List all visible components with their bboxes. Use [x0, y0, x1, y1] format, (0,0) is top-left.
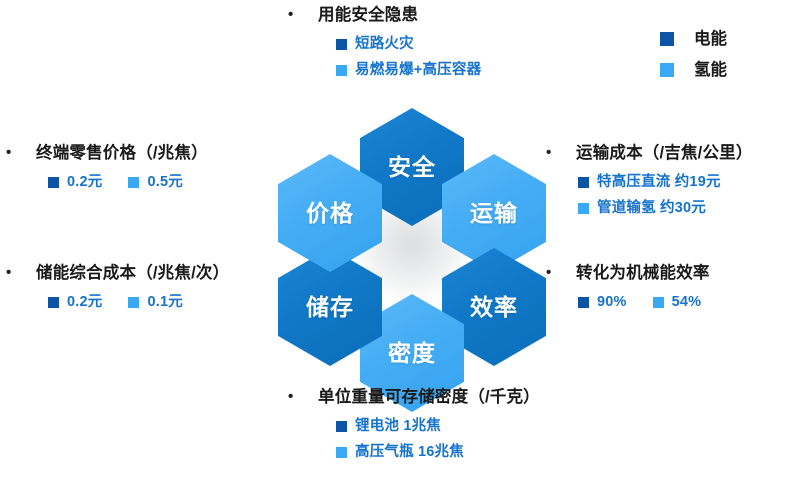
list-item: 管道输氢 约30元	[578, 199, 753, 217]
block-transport-cost-title: 运输成本（/吉焦/公里）	[576, 142, 753, 164]
bullet-dot-icon: •	[288, 4, 298, 26]
block-price-item-1: 0.5元	[147, 173, 182, 191]
block-efficiency: • 转化为机械能效率 90% 54%	[546, 262, 710, 311]
hexagon-label-efficiency: 效率	[470, 294, 518, 320]
bullet-dot-icon: •	[6, 262, 16, 284]
block-density-header: • 单位重量可存储密度（/千克）	[288, 386, 540, 408]
block-efficiency-item-1: 54%	[672, 293, 702, 311]
swatch-dark-icon	[336, 39, 347, 50]
swatch-light-icon	[653, 297, 664, 308]
list-item-pair: 90% 54%	[578, 293, 710, 311]
swatch-dark-icon	[48, 177, 59, 188]
block-safety-item-0: 短路火灾	[355, 35, 414, 53]
block-safety: • 用能安全隐患 短路火灾 易燃易爆+高压容器	[288, 4, 481, 79]
block-storage-cost: • 储能综合成本（/兆焦/次） 0.2元 0.1元	[6, 262, 229, 311]
block-safety-items: 短路火灾 易燃易爆+高压容器	[336, 35, 481, 79]
block-transport-cost-items: 特高压直流 约19元 管道输氢 约30元	[578, 173, 753, 217]
block-storage-cost-header: • 储能综合成本（/兆焦/次）	[6, 262, 229, 284]
legend-label-hydrogen: 氢能	[694, 61, 727, 79]
bullet-dot-icon: •	[6, 142, 16, 164]
swatch-dark-icon	[48, 297, 59, 308]
block-efficiency-header: • 转化为机械能效率	[546, 262, 710, 284]
block-density-item-1: 高压气瓶 16兆焦	[355, 443, 464, 461]
hexagon-label-storage: 储存	[306, 294, 354, 320]
swatch-dark-icon	[336, 421, 347, 432]
block-density-title: 单位重量可存储密度（/千克）	[318, 386, 540, 408]
legend-swatch-dark-icon	[660, 32, 674, 46]
block-transport-cost: • 运输成本（/吉焦/公里） 特高压直流 约19元 管道输氢 约30元	[546, 142, 753, 217]
legend-label-electric: 电能	[694, 30, 727, 48]
list-item: 锂电池 1兆焦	[336, 417, 540, 435]
block-price-title: 终端零售价格（/兆焦）	[36, 142, 208, 164]
bullet-dot-icon: •	[546, 142, 556, 164]
block-transport-cost-header: • 运输成本（/吉焦/公里）	[546, 142, 753, 164]
list-item: 易燃易爆+高压容器	[336, 61, 481, 79]
block-efficiency-items: 90% 54%	[578, 293, 710, 311]
swatch-light-icon	[128, 297, 139, 308]
block-density: • 单位重量可存储密度（/千克） 锂电池 1兆焦 高压气瓶 16兆焦	[288, 386, 540, 461]
block-safety-header: • 用能安全隐患	[288, 4, 481, 26]
block-density-items: 锂电池 1兆焦 高压气瓶 16兆焦	[336, 417, 540, 461]
block-transport-cost-item-0: 特高压直流 约19元	[597, 173, 721, 191]
swatch-light-icon	[578, 203, 589, 214]
hexagon-label-transport: 运输	[470, 200, 518, 226]
legend-item-hydrogen: 氢能	[660, 61, 727, 79]
hexagon-label-density: 密度	[388, 340, 436, 366]
infographic-canvas: 电能 氢能 安全 运输 效率 密度 储存 价格 •	[0, 0, 800, 491]
block-efficiency-item-0: 90%	[597, 293, 627, 311]
block-price-item-0: 0.2元	[67, 173, 102, 191]
block-safety-item-1: 易燃易爆+高压容器	[355, 61, 481, 79]
block-density-item-0: 锂电池 1兆焦	[355, 417, 441, 435]
block-storage-cost-title: 储能综合成本（/兆焦/次）	[36, 262, 229, 284]
swatch-dark-icon	[578, 177, 589, 188]
legend-swatch-light-icon	[660, 63, 674, 77]
block-price: • 终端零售价格（/兆焦） 0.2元 0.5元	[6, 142, 208, 191]
swatch-dark-icon	[578, 297, 589, 308]
block-storage-cost-item-0: 0.2元	[67, 293, 102, 311]
list-item-pair: 0.2元 0.1元	[48, 293, 229, 311]
hexagon-label-safety: 安全	[388, 154, 436, 180]
hexagon-cluster: 安全 运输 效率 密度 储存 价格	[278, 108, 546, 380]
block-safety-title: 用能安全隐患	[318, 4, 418, 26]
list-item: 短路火灾	[336, 35, 481, 53]
block-storage-cost-items: 0.2元 0.1元	[48, 293, 229, 311]
swatch-light-icon	[128, 177, 139, 188]
swatch-light-icon	[336, 65, 347, 76]
bullet-dot-icon: •	[546, 262, 556, 284]
hexagon-label-price: 价格	[306, 200, 354, 226]
list-item-pair: 0.2元 0.5元	[48, 173, 208, 191]
legend-item-electric: 电能	[660, 30, 727, 48]
legend: 电能 氢能	[660, 30, 727, 79]
list-item: 特高压直流 约19元	[578, 173, 753, 191]
block-price-header: • 终端零售价格（/兆焦）	[6, 142, 208, 164]
block-storage-cost-item-1: 0.1元	[147, 293, 182, 311]
bullet-dot-icon: •	[288, 386, 298, 408]
block-price-items: 0.2元 0.5元	[48, 173, 208, 191]
list-item: 高压气瓶 16兆焦	[336, 443, 540, 461]
swatch-light-icon	[336, 447, 347, 458]
block-efficiency-title: 转化为机械能效率	[576, 262, 710, 284]
block-transport-cost-item-1: 管道输氢 约30元	[597, 199, 706, 217]
